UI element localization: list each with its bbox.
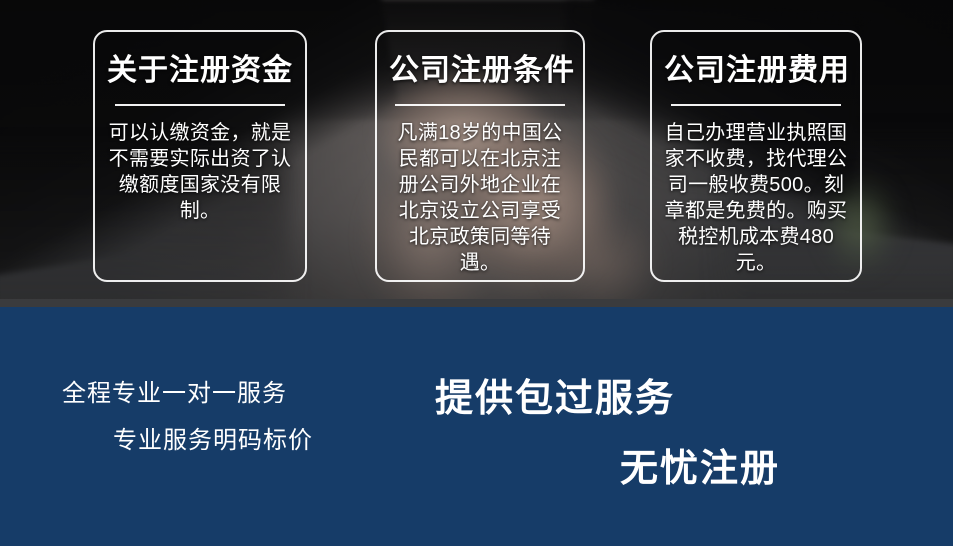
card-body-text: 自己办理营业执照国家不收费，找代理公司一般收费500。刻章都是免费的。购买税控机… bbox=[664, 120, 848, 276]
card-title: 关于注册资金 bbox=[107, 54, 293, 88]
card-divider bbox=[115, 104, 285, 106]
card-body-text: 可以认缴资金，就是不需要实际出资了认缴额度国家没有限制。 bbox=[107, 120, 293, 224]
service-point-line-2: 专业服务明码标价 bbox=[113, 427, 313, 456]
headline-group: 提供包过服务 无忧注册 bbox=[420, 307, 953, 546]
headline-secondary: 无忧注册 bbox=[620, 447, 780, 493]
headline-primary: 提供包过服务 bbox=[435, 377, 675, 423]
info-card-registration-requirements[interactable]: 公司注册条件 凡满18岁的中国公民都可以在北京注册公司外地企业在北京设立公司享受… bbox=[375, 30, 585, 282]
card-title: 公司注册费用 bbox=[664, 54, 848, 88]
info-card-registered-capital[interactable]: 关于注册资金 可以认缴资金，就是不需要实际出资了认缴额度国家没有限制。 bbox=[93, 30, 307, 282]
service-point-line-1: 全程专业一对一服务 bbox=[62, 380, 287, 409]
blue-slogan-section: 全程专业一对一服务 专业服务明码标价 提供包过服务 无忧注册 bbox=[0, 307, 953, 546]
card-title: 公司注册条件 bbox=[389, 54, 571, 88]
promo-banner: 关于注册资金 可以认缴资金，就是不需要实际出资了认缴额度国家没有限制。 公司注册… bbox=[0, 0, 953, 546]
service-points-group: 全程专业一对一服务 专业服务明码标价 bbox=[0, 307, 420, 546]
card-body-text: 凡满18岁的中国公民都可以在北京注册公司外地企业在北京设立公司享受北京政策同等待… bbox=[389, 120, 571, 276]
info-card-registration-fees[interactable]: 公司注册费用 自己办理营业执照国家不收费，找代理公司一般收费500。刻章都是免费… bbox=[650, 30, 862, 282]
card-divider bbox=[671, 104, 841, 106]
card-divider bbox=[395, 104, 565, 106]
